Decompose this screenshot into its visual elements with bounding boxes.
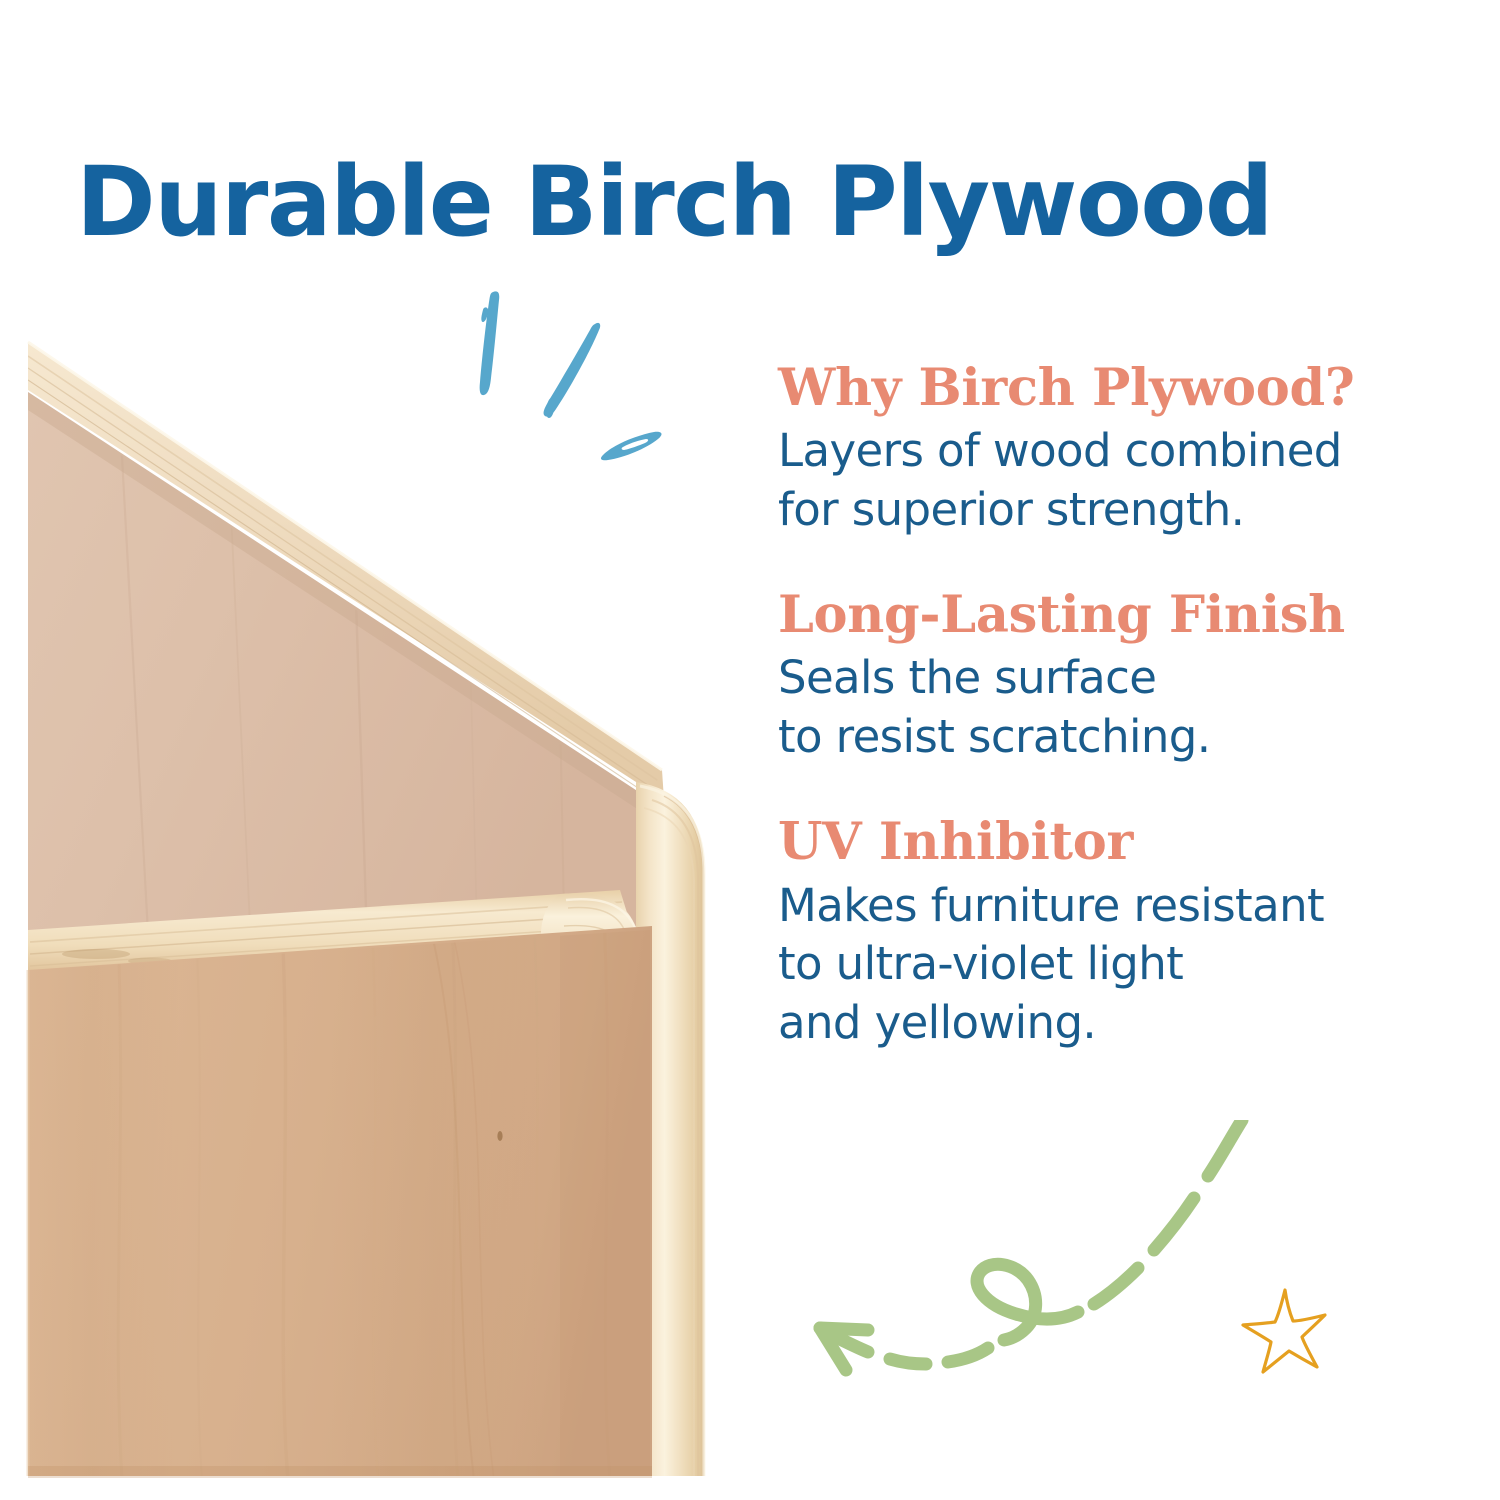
cabinet-interior-panel — [28, 392, 648, 970]
feature-body: Layers of wood combined for superior str… — [778, 422, 1418, 539]
feature-body-line: Layers of wood combined — [778, 422, 1418, 481]
feature-list: Why Birch Plywood? Layers of wood combin… — [778, 358, 1418, 1052]
feature-body: Makes furniture resistant to ultra-viole… — [778, 877, 1418, 1053]
feature-heading: Why Birch Plywood? — [778, 358, 1418, 418]
feature-item-long-lasting-finish: Long-Lasting Finish Seals the surface to… — [778, 585, 1418, 766]
feature-body-line: to ultra-violet light — [778, 935, 1418, 994]
curved-arrow-icon — [790, 1120, 1290, 1410]
feature-heading: UV Inhibitor — [778, 812, 1418, 872]
page-title: Durable Birch Plywood — [76, 152, 1436, 253]
star-icon — [1235, 1282, 1335, 1382]
feature-body-line: for superior strength. — [778, 481, 1418, 540]
feature-body-line: and yellowing. — [778, 994, 1418, 1053]
feature-body-line: Makes furniture resistant — [778, 877, 1418, 936]
feature-body-line: Seals the surface — [778, 649, 1418, 708]
product-photo — [0, 330, 740, 1500]
feature-item-uv-inhibitor: UV Inhibitor Makes furniture resistant t… — [778, 812, 1418, 1052]
feature-body-line: to resist scratching. — [778, 708, 1418, 767]
cabinet-front-panel — [0, 918, 656, 1486]
feature-heading: Long-Lasting Finish — [778, 585, 1418, 645]
feature-item-why-birch-plywood: Why Birch Plywood? Layers of wood combin… — [778, 358, 1418, 539]
feature-body: Seals the surface to resist scratching. — [778, 649, 1418, 766]
